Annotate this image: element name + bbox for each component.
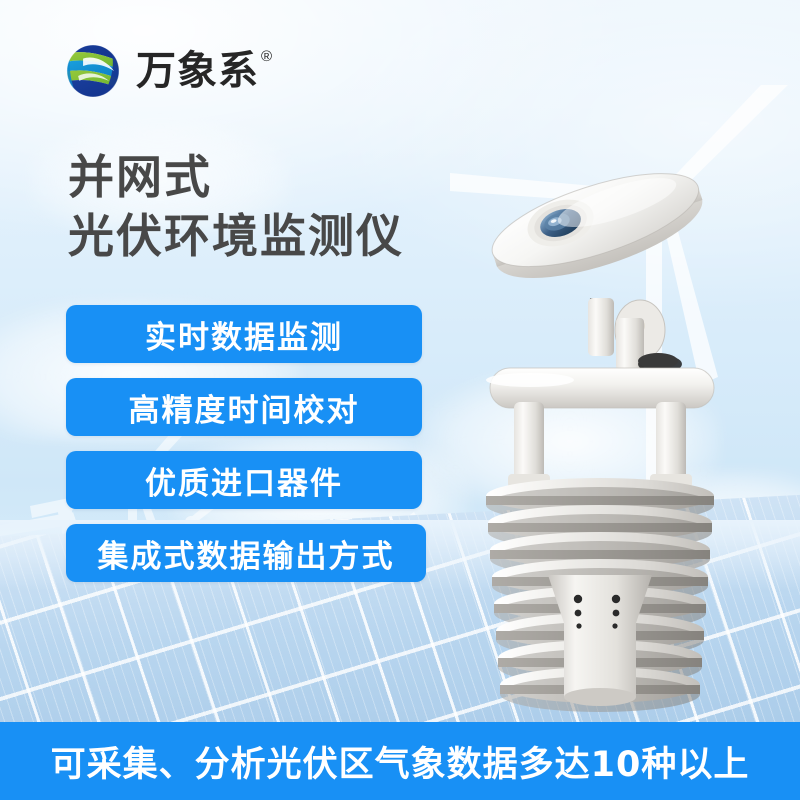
tilt-bracket bbox=[588, 298, 682, 373]
feature-badge: 优质进口器件 bbox=[66, 451, 422, 509]
page-title: 并网式 光伏环境监测仪 bbox=[68, 148, 404, 266]
feature-badge-list: 实时数据监测 高精度时间校对 优质进口器件 集成式数据输出方式 bbox=[66, 305, 426, 582]
headline-line-1: 并网式 bbox=[68, 148, 404, 207]
brand-name: 万象系 bbox=[136, 51, 259, 91]
headline-line-2: 光伏环境监测仪 bbox=[68, 207, 404, 266]
feature-badge: 高精度时间校对 bbox=[66, 378, 422, 436]
sensor-base-housing bbox=[470, 575, 730, 725]
bottom-banner-text: 可采集、分析光伏区气象数据多达10种以上 bbox=[51, 736, 750, 787]
ultrasonic-wind-sensor bbox=[486, 368, 714, 488]
feature-badge: 集成式数据输出方式 bbox=[66, 524, 426, 582]
globe-swirl-logo-icon bbox=[62, 40, 124, 102]
bottom-banner: 可采集、分析光伏区气象数据多达10种以上 bbox=[0, 722, 800, 800]
product-poster: 万象系 ® 并网式 光伏环境监测仪 实时数据监测 高精度时间校对 优质进口器件 … bbox=[0, 0, 800, 800]
pyranometer-dome-sensor bbox=[482, 154, 712, 297]
brand-logo: 万象系 ® bbox=[62, 40, 272, 102]
feature-badge: 实时数据监测 bbox=[66, 305, 422, 363]
registered-trademark-mark: ® bbox=[261, 49, 272, 64]
